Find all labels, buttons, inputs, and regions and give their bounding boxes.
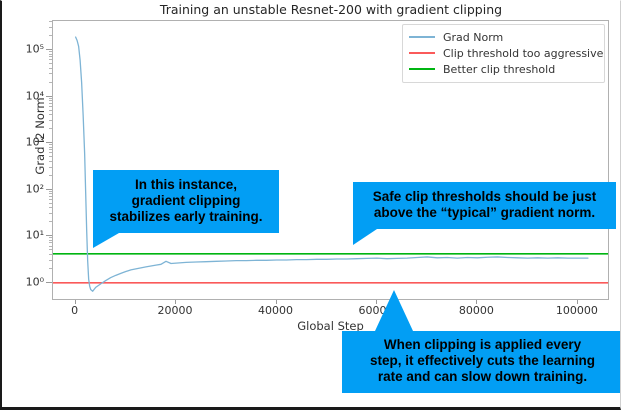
callout-clipping-every-step-line-2: step, it effectively cuts the learning <box>348 353 617 369</box>
callout-safe-threshold-line-1: Safe clip thresholds should be just <box>357 189 612 205</box>
y-tick-label: 10⁰ <box>26 275 44 288</box>
x-tick-mark <box>476 300 477 304</box>
chart-legend: Grad Norm Clip threshold too aggressive … <box>402 24 605 83</box>
x-tick-label: 20000 <box>158 304 193 317</box>
callout-early-training-line-3: stabilizes early training. <box>97 209 275 225</box>
y-tick-label: 10¹ <box>26 229 44 242</box>
callout-early-training: In this instance, gradient clipping stab… <box>93 170 279 233</box>
callout-safe-threshold-tail <box>353 229 377 245</box>
x-tick-mark <box>577 300 578 304</box>
legend-swatch-grad-norm <box>409 36 435 38</box>
callout-early-training-tail <box>93 233 119 248</box>
legend-label-better-clip-threshold: Better clip threshold <box>443 63 555 76</box>
y-tick-label: 10⁵ <box>26 43 44 56</box>
x-tick-label: 100000 <box>556 304 598 317</box>
callout-early-training-line-1: In this instance, <box>97 177 275 193</box>
legend-label-grad-norm: Grad Norm <box>443 31 503 44</box>
x-tick-mark <box>175 300 176 304</box>
x-tick-mark <box>276 300 277 304</box>
callout-clipping-every-step: When clipping is applied every step, it … <box>342 331 621 393</box>
callout-safe-threshold-line-2: above the “typical” gradient norm. <box>357 205 612 221</box>
legend-swatch-better-clip-threshold <box>409 68 435 70</box>
legend-item-grad-norm: Grad Norm <box>409 29 598 45</box>
x-tick-mark <box>75 300 76 304</box>
callout-clipping-every-step-tail <box>375 290 413 331</box>
screenshot-root: Training an unstable Resnet-200 with gra… <box>0 0 621 410</box>
x-tick-label: 0 <box>71 304 78 317</box>
y-tick-label: 10⁴ <box>26 89 44 102</box>
matplotlib-figure: Training an unstable Resnet-200 with gra… <box>2 1 621 410</box>
y-tick-label: 10³ <box>26 136 44 149</box>
legend-label-clip-threshold-too-aggressive: Clip threshold too aggressive <box>443 47 603 60</box>
legend-item-better-clip-threshold: Better clip threshold <box>409 61 598 77</box>
legend-item-clip-threshold-too-aggressive: Clip threshold too aggressive <box>409 45 598 61</box>
callout-clipping-every-step-line-1: When clipping is applied every <box>348 337 617 353</box>
legend-swatch-clip-threshold-too-aggressive <box>409 52 435 54</box>
callout-safe-threshold: Safe clip thresholds should be just abov… <box>353 182 616 229</box>
y-tick-label: 10² <box>26 182 44 195</box>
callout-early-training-line-2: gradient clipping <box>97 193 275 209</box>
x-tick-label: 80000 <box>459 304 494 317</box>
x-tick-label: 40000 <box>258 304 293 317</box>
callout-clipping-every-step-line-3: rate and can slow down training. <box>348 369 617 385</box>
page-title: Training an unstable Resnet-200 with gra… <box>52 2 610 17</box>
